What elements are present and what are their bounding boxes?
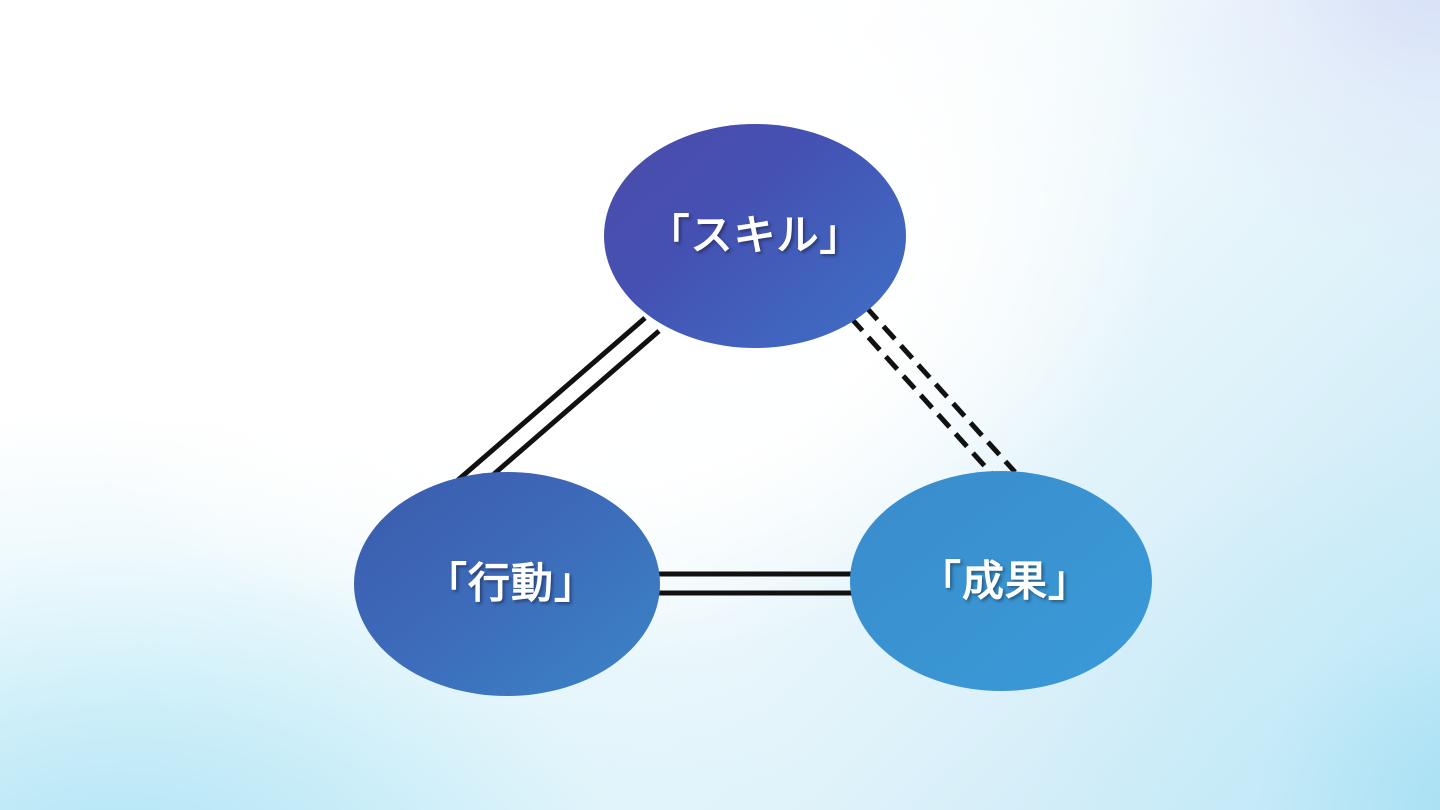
node-result-ellipse[interactable] [850, 471, 1152, 691]
node-skill-ellipse[interactable] [604, 124, 906, 348]
connector-action-result [650, 574, 860, 593]
connector-skill-result-line-outer [851, 318, 1000, 483]
node-action-ellipse[interactable] [354, 472, 660, 696]
slide-canvas: 「スキル」 「行動」 「成果」 [0, 0, 1440, 810]
connector-skill-result [851, 307, 1015, 483]
diagram-canvas [0, 0, 1440, 810]
connector-skill-result-line-inner [866, 307, 1015, 472]
connector-skill-action-line-outer [435, 318, 645, 500]
